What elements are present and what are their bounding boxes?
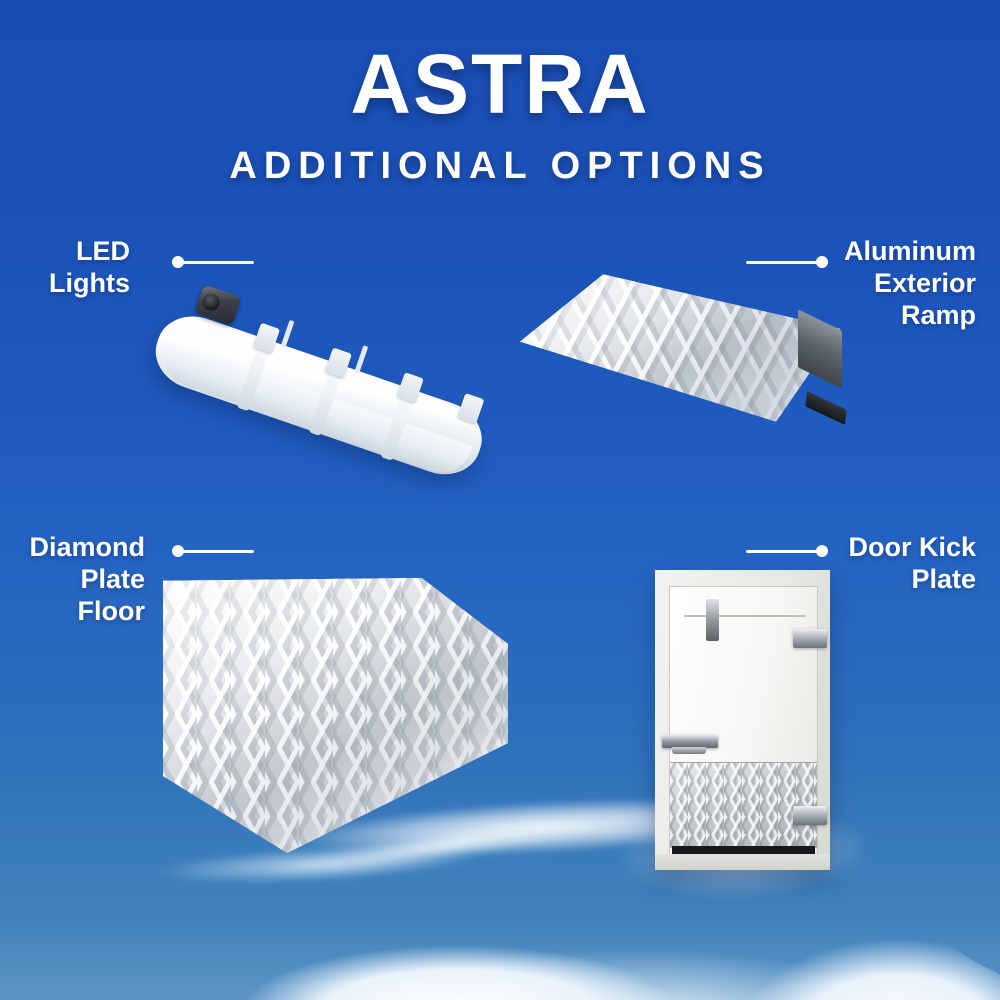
door-leaf	[669, 586, 818, 856]
leader-line-led-lights	[172, 256, 254, 268]
door-frame	[655, 570, 830, 870]
product-image-aluminum-ramp	[520, 268, 840, 428]
door-kick-plate-icon	[670, 762, 817, 848]
label-led-lights: LED Lights	[20, 236, 130, 300]
door-top-rail	[684, 615, 805, 617]
diamond-plate-sheet-icon	[163, 578, 508, 853]
door-latch-handle-icon	[662, 735, 718, 748]
door-hinge-icon	[793, 629, 827, 648]
led-housing-icon	[146, 306, 491, 485]
label-diamond-plate-floor: Diamond Plate Floor	[10, 532, 145, 628]
leader-bar	[178, 261, 254, 264]
door-hinge-icon	[793, 806, 827, 825]
door-safety-release-icon	[706, 599, 719, 641]
leader-line-diamond-plate-floor	[172, 545, 254, 557]
door-floor-strip	[655, 854, 830, 870]
leader-bar	[178, 550, 254, 553]
ramp-rubber-foot	[805, 391, 846, 425]
product-image-led-lights	[150, 272, 520, 437]
ramp-tread-surface-icon	[520, 268, 840, 428]
product-image-door-kick-plate	[655, 570, 830, 870]
led-bracket	[354, 345, 368, 373]
product-image-diamond-plate-floor	[163, 578, 508, 853]
led-mounting-clip-icon	[457, 393, 484, 424]
led-bracket	[281, 320, 295, 348]
page-subtitle: ADDITIONAL OPTIONS	[0, 145, 1000, 188]
page-title: ASTRA	[0, 36, 1000, 133]
